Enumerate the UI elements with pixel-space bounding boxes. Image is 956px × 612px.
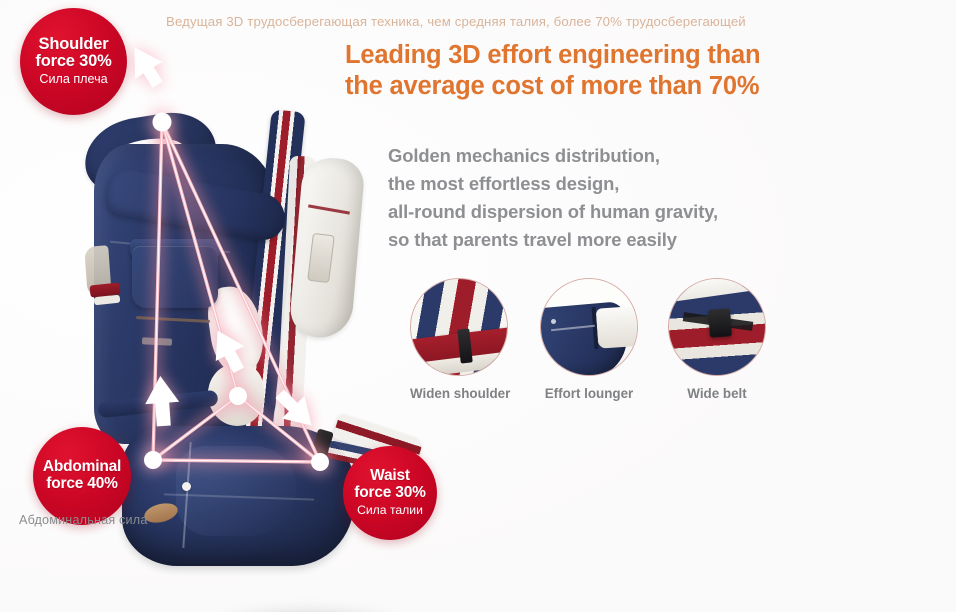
infographic-canvas: Ведущая 3D трудосберегающая техника, чем… [0, 0, 956, 612]
abdominal-russian-caption: Абдоминальная сила [19, 513, 148, 527]
badge-abdominal-label: Abdominal force 40% [43, 459, 121, 492]
feature-effort-lounger-caption: Effort lounger [540, 386, 638, 401]
feature-effort-lounger-image [540, 278, 638, 376]
badge-waist-label: Waist force 30% [354, 468, 425, 501]
feature-wide-belt[interactable]: Wide belt [668, 278, 766, 401]
feature-thumbnail-row: Widen shoulder Effort lounger Wide belt [410, 278, 770, 418]
badge-shoulder-line-2: force 30% [35, 52, 111, 70]
snap-button [182, 482, 191, 491]
feature-widen-shoulder[interactable]: Widen shoulder [410, 278, 508, 401]
badge-waist-line-1: Waist [370, 467, 410, 484]
badge-shoulder-line-1: Shoulder [39, 35, 109, 53]
feature-widen-shoulder-caption: Widen shoulder [410, 386, 508, 401]
body-copy: Golden mechanics distribution, the most … [388, 142, 808, 254]
brand-tag [142, 337, 172, 346]
russian-strapline: Ведущая 3D трудосберегающая техника, чем… [166, 14, 806, 29]
badge-waist-force: Waist force 30% Сила талии [343, 446, 437, 540]
badge-waist-line-2: force 30% [354, 484, 425, 501]
badge-abdominal-line-2: force 40% [46, 475, 117, 492]
headline: Leading 3D effort engineering than the a… [345, 40, 790, 102]
front-pocket [132, 246, 218, 308]
feature-widen-shoulder-image [410, 278, 508, 376]
product-shadow [198, 608, 418, 612]
body-line-2: the most effortless design, [388, 170, 808, 198]
badge-shoulder-russian: Сила плеча [39, 72, 107, 87]
badge-shoulder-force: Shoulder force 30% Сила плеча [20, 8, 127, 115]
lounger-white-pad [596, 305, 638, 348]
lounger-snap [551, 319, 556, 324]
badge-shoulder-label: Shoulder force 30% [35, 36, 111, 72]
headline-line-2: the average cost of more than 70% [345, 71, 790, 102]
badge-waist-russian: Сила талии [357, 503, 423, 518]
hip-seat-pad [176, 446, 296, 536]
belt-buckle [708, 308, 732, 337]
feature-effort-lounger[interactable]: Effort lounger [540, 278, 638, 401]
feature-wide-belt-caption: Wide belt [668, 386, 766, 401]
body-line-1: Golden mechanics distribution, [388, 142, 808, 170]
feature-wide-belt-image [668, 278, 766, 376]
body-line-3: all-round dispersion of human gravity, [388, 198, 808, 226]
headline-line-1: Leading 3D effort engineering than [345, 41, 760, 69]
badge-abdominal-line-1: Abdominal [43, 458, 121, 475]
body-line-4: so that parents travel more easily [388, 226, 808, 254]
badge-abdominal-force: Abdominal force 40% [33, 427, 131, 525]
